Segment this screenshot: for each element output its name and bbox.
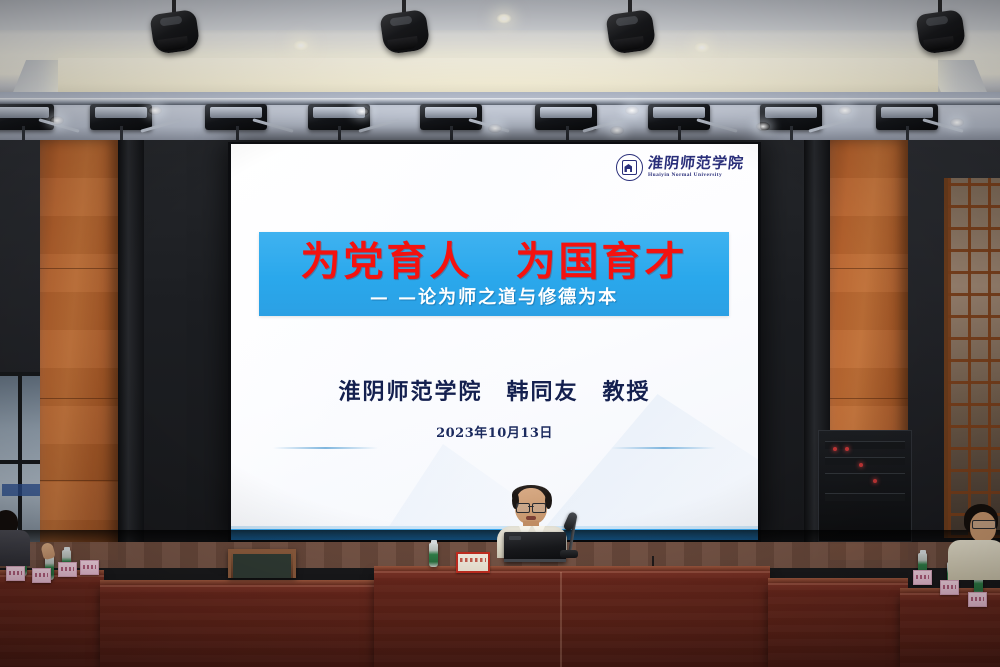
slide-date: 2023年10月13日 <box>231 422 758 441</box>
slide-title: 为党育人 为国育才 <box>301 242 688 282</box>
name-card <box>58 562 77 577</box>
presenter-mouth <box>526 516 536 520</box>
name-card <box>6 566 25 581</box>
lecture-hall-photo: 淮阴师范学院 Huaiyin Normal University 为党育人 为国… <box>0 0 1000 667</box>
stage-spotlight-icon <box>918 4 964 52</box>
stage-spotlight-icon <box>608 4 654 52</box>
name-card <box>913 570 932 585</box>
ceiling <box>0 0 1000 100</box>
attendee-torso <box>0 530 30 566</box>
name-card <box>80 560 99 575</box>
head-table-left <box>100 585 376 667</box>
stage-spotlight-icon <box>152 4 198 52</box>
rail-downlight-icon <box>950 118 964 127</box>
water-bottle <box>429 543 438 567</box>
rail-downlight-icon <box>610 126 624 135</box>
name-card <box>940 580 959 595</box>
rail-downlight-icon <box>488 124 502 133</box>
slide-subtitle: — —论为师之道与修德为本 <box>370 289 618 307</box>
name-card <box>968 592 987 607</box>
slide-title-banner: 为党育人 为国育才 — —论为师之道与修德为本 <box>259 232 729 316</box>
slide-presenter-line: 淮阴师范学院 韩同友 教授 <box>231 374 758 406</box>
projection-screen: 淮阴师范学院 Huaiyin Normal University 为党育人 为国… <box>231 144 758 540</box>
name-card <box>32 568 51 583</box>
presenter-name-plate <box>456 552 490 573</box>
lattice-window <box>944 178 1000 538</box>
rail-panel-light-icon <box>0 104 54 130</box>
head-table-center <box>374 571 770 667</box>
ceiling-downlight-icon <box>496 13 512 24</box>
ceiling-downlight-icon <box>293 40 309 51</box>
attendee-torso <box>948 540 1000 580</box>
university-seal-icon <box>616 154 643 181</box>
university-logo: 淮阴师范学院 Huaiyin Normal University <box>616 154 744 181</box>
wood-wall-panel-left <box>40 140 118 560</box>
table-panel-seam <box>560 572 562 667</box>
audience-table-far-left <box>0 575 104 667</box>
wall-dark-reveal-left <box>118 140 144 560</box>
presenter-hair-side <box>545 492 552 509</box>
ceiling-downlight-icon <box>694 42 710 53</box>
rail-downlight-icon <box>50 116 64 125</box>
stage-spotlight-icon <box>382 4 428 52</box>
university-name-cn: 淮阴师范学院 <box>647 156 745 171</box>
rail-downlight-icon <box>838 106 852 115</box>
slide-divider-right <box>611 447 716 449</box>
rail-downlight-icon <box>148 106 162 115</box>
chair <box>228 549 296 578</box>
eyeglasses-icon <box>516 503 546 511</box>
rail-downlight-icon <box>756 122 770 131</box>
av-equipment-rack <box>818 430 912 542</box>
university-name-en: Huaiyin Normal University <box>648 173 744 178</box>
rail-downlight-icon <box>355 107 369 116</box>
head-table-right <box>768 583 908 667</box>
slide-divider-left <box>273 447 378 449</box>
rail-downlight-icon <box>625 106 639 115</box>
eyeglasses-icon <box>972 520 996 529</box>
